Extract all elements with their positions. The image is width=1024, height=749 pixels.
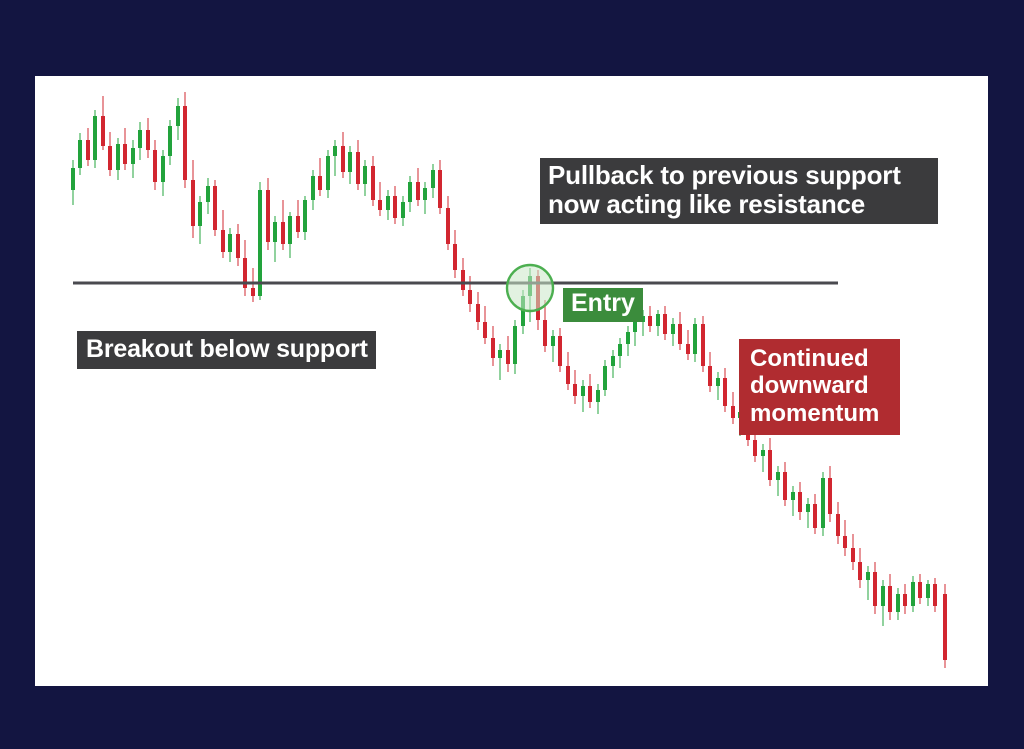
candle-body [888,586,892,612]
momentum-annotation-label: Continued downward momentum [739,339,900,435]
candle-body [131,148,135,164]
candle-body [191,180,195,226]
candle-body [333,146,337,156]
candle-body [626,332,630,344]
candle-wick [379,182,381,216]
candle-body [461,270,465,290]
candle-body [273,222,277,242]
candle-body [896,594,900,612]
pullback-annotation-label: Pullback to previous support now acting … [540,158,938,224]
candle-wick [499,344,501,380]
candle-body [356,152,360,184]
candle-body [221,230,225,252]
candle-body [701,324,705,366]
candle-body [761,450,765,456]
candle-body [108,146,112,170]
candle-body [686,344,690,354]
candle-body [393,196,397,218]
candle-body [326,156,330,190]
candle-body [911,582,915,606]
candle-body [783,472,787,500]
candle-body [663,314,667,334]
candle-body [453,244,457,270]
candle-body [303,200,307,232]
candle-body [581,386,585,396]
candle-body [86,140,90,160]
candle-body [483,322,487,338]
candle-body [318,176,322,190]
candle-body [633,322,637,332]
candle-body [438,170,442,208]
candle-body [551,336,555,346]
candle-body [386,196,390,210]
candle-body [408,182,412,202]
momentum-line-3: momentum [750,400,891,427]
candle-body [213,186,217,230]
candle-body [146,130,150,150]
candle-body [558,336,562,366]
candle-body [821,478,825,528]
candle-body [341,146,345,172]
candle-body [731,406,735,418]
candle-body [138,130,142,148]
candle-body [573,384,577,396]
candle-body [513,326,517,364]
candle-body [491,338,495,358]
candle-body [401,202,405,218]
candle-body [903,594,907,606]
screenshot-stage: Pullback to previous support now acting … [0,0,1024,749]
entry-badge: Entry [563,288,643,322]
candle-body [266,190,270,242]
pullback-line-2: now acting like resistance [548,190,930,219]
candle-body [476,304,480,322]
candle-body [843,536,847,548]
candle-body [123,144,127,164]
entry-highlight-circle [507,265,553,311]
candle-body [153,150,157,182]
candle-body [596,390,600,402]
momentum-line-1: Continued [750,345,891,372]
candle-body [176,106,180,126]
candle-body [588,386,592,402]
candle-body [753,440,757,456]
candle-body [858,562,862,580]
candle-body [423,188,427,200]
candle-body [161,156,165,182]
candle-body [716,378,720,386]
candle-wick [762,444,764,472]
candle-body [288,216,292,244]
candle-body [198,202,202,226]
candle-body [566,366,570,384]
candle-body [678,324,682,344]
candle-body [791,492,795,500]
candle-body [851,548,855,562]
candle-body [708,366,712,386]
candle-body [348,152,352,172]
candle-body [168,126,172,156]
candle-body [828,478,832,514]
candle-body [806,504,810,512]
candle-body [251,288,255,296]
candle-body [296,216,300,232]
candle-body [116,144,120,170]
candle-body [648,316,652,326]
candle-wick [777,466,779,496]
candle-wick [867,566,869,600]
candle-body [768,450,772,480]
candle-body [416,182,420,200]
candle-body [93,116,97,160]
candle-body [468,290,472,304]
candle-body [873,572,877,606]
candle-body [101,116,105,146]
candle-body [918,582,922,598]
candle-body [78,140,82,168]
candle-body [371,166,375,200]
candle-body [926,584,930,598]
candle-body [943,594,947,660]
candle-body [236,234,240,258]
candle-body [618,344,622,356]
candle-body [228,234,232,252]
candle-body [881,586,885,606]
candle-body [776,472,780,480]
candle-wick [807,498,809,528]
candle-body [836,514,840,536]
candle-wick [792,486,794,516]
candle-body [543,320,547,346]
candle-wick [252,268,254,302]
candle-body [498,350,502,358]
candle-body [611,356,615,366]
candle-body [813,504,817,528]
candle-body [798,492,802,512]
candle-body [933,584,937,606]
candle-body [656,314,660,326]
candle-body [431,170,435,188]
candle-body [71,168,75,190]
candle-body [723,378,727,406]
candle-wick [334,140,336,176]
candle-body [866,572,870,580]
candle-body [671,324,675,334]
candle-body [281,222,285,244]
momentum-line-2: downward [750,372,891,399]
candle-body [183,106,187,180]
breakout-annotation-label: Breakout below support [77,331,376,369]
candle-body [446,208,450,244]
candle-body [603,366,607,390]
candle-body [363,166,367,184]
candle-body [693,324,697,354]
pullback-line-1: Pullback to previous support [548,161,930,190]
candle-body [311,176,315,200]
candle-body [258,190,262,296]
candle-body [506,350,510,364]
candle-body [206,186,210,202]
candle-body [378,200,382,210]
